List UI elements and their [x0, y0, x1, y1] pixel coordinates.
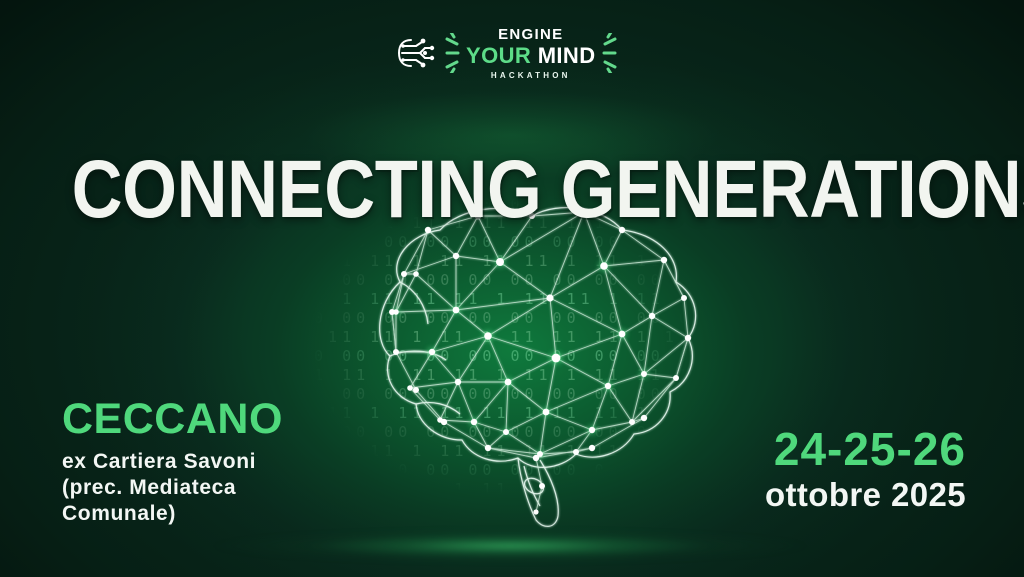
venue-address-line-2: (prec. Mediateca [62, 475, 362, 501]
logo-line-hackathon: HACKATHON [491, 72, 571, 80]
sparkle-burst-icon-right [600, 33, 630, 73]
date-block: 24-25-26 ottobre 2025 [765, 424, 966, 514]
logo-word-mind: MIND [538, 43, 596, 68]
event-poster: 00 00 00 00 00 00 00 00 00 00 11 1 11 11… [0, 0, 1024, 577]
venue-address: ex Cartiera Savoni (prec. Mediateca Comu… [62, 449, 362, 527]
logo-line-your-mind: YOUR MIND [466, 45, 596, 67]
venue-address-line-1: ex Cartiera Savoni [62, 449, 362, 475]
venue-address-line-3: Comunale) [62, 501, 362, 527]
sparkle-burst-icon-left [432, 33, 462, 73]
event-days: 24-25-26 [765, 424, 966, 474]
logo-word-your: YOUR [466, 43, 531, 68]
page-title: CONNECTING GENERATIONS [72, 151, 953, 229]
logo-line-engine: ENGINE [498, 27, 563, 42]
event-month-year: ottobre 2025 [765, 476, 966, 514]
logo-wordmark: ENGINE YOUR MIND HACKATHON [448, 27, 614, 80]
event-logo[interactable]: ENGINE YOUR MIND HACKATHON [394, 22, 634, 84]
venue-block: CECCANO ex Cartiera Savoni (prec. Mediat… [62, 396, 362, 527]
venue-city: CECCANO [62, 396, 362, 442]
